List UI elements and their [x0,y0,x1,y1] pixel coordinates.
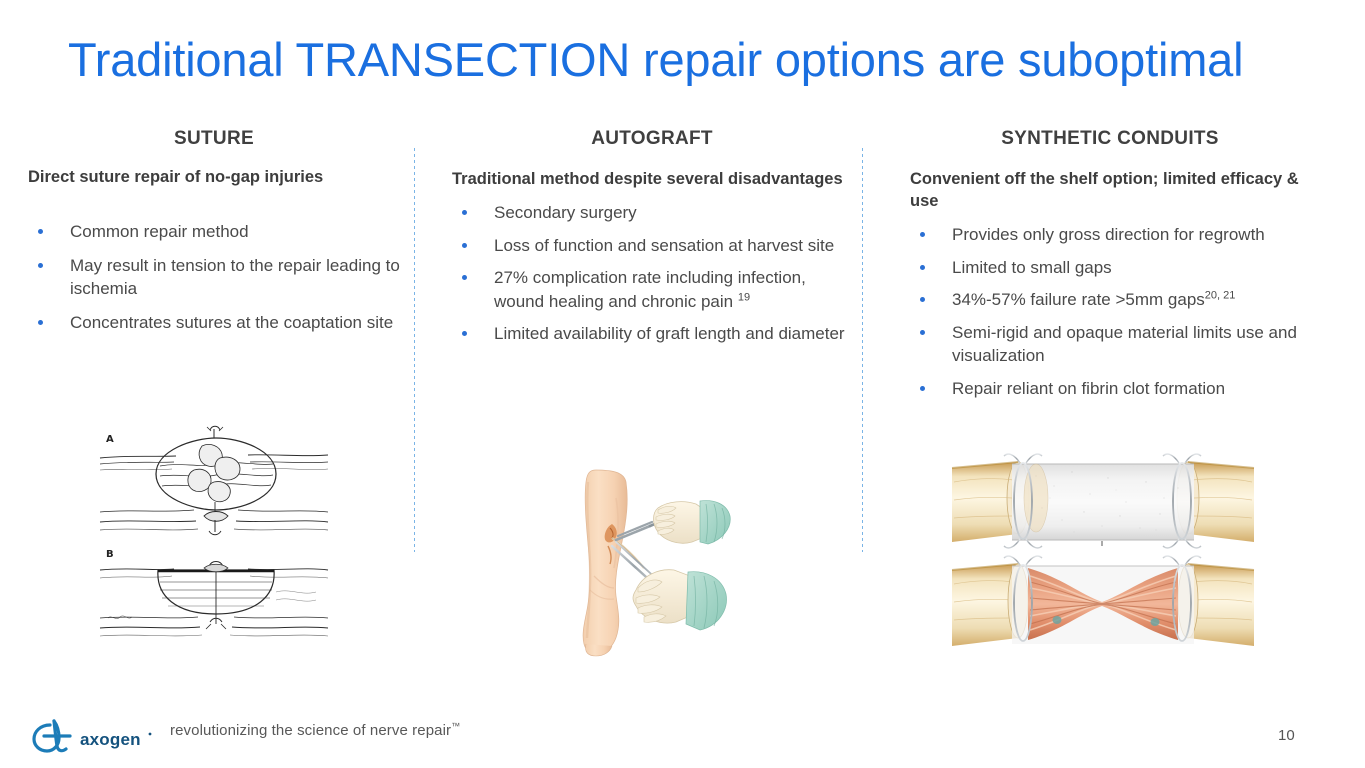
column-subheading-synthetic-conduits: Convenient off the shelf option; limited… [910,168,1310,212]
list-item: Concentrates sutures at the coaptation s… [28,311,400,335]
axogen-logo-wordmark: axogen [80,730,141,749]
suture-repair-line-drawing-icon: A [98,424,330,656]
synthetic-conduit-illustration-icon [950,442,1256,658]
list-item: 27% complication rate including infectio… [452,266,852,313]
axogen-logo-icon: axogen [28,714,156,756]
bullet-dot-icon [920,232,925,237]
column-divider-left [414,148,415,552]
bullet-dot-icon [920,330,925,335]
list-item-text: Repair reliant on fibrin clot formation [952,379,1225,398]
list-item-text: Limited to small gaps [952,258,1112,277]
bullet-list-synthetic-conduits: Provides only gross direction for regrow… [910,223,1310,400]
bullet-dot-icon [462,331,467,336]
list-item-text: May result in tension to the repair lead… [70,256,400,299]
list-item-text: Secondary surgery [494,203,637,222]
list-item-text: Limited availability of graft length and… [494,324,845,343]
list-item: Limited to small gaps [910,256,1310,280]
list-item: Semi-rigid and opaque material limits us… [910,321,1310,368]
bullet-dot-icon [920,297,925,302]
list-item: Limited availability of graft length and… [452,322,852,346]
bullet-dot-icon [920,386,925,391]
suture-repair-line-drawing-figure: A [98,424,330,656]
list-item: Loss of function and sensation at harves… [452,234,852,258]
list-item: May result in tension to the repair lead… [28,254,400,301]
list-item: 34%-57% failure rate >5mm gaps20, 21 [910,288,1310,312]
page-number: 10 [1278,727,1295,744]
bullet-list-autograft: Secondary surgery Loss of function and s… [452,201,852,346]
bullet-dot-icon [462,210,467,215]
column-divider-right [862,148,863,552]
list-item-text: Provides only gross direction for regrow… [952,225,1265,244]
bullet-dot-icon [462,275,467,280]
synthetic-conduit-illustration-figure [950,442,1256,658]
trademark-symbol: ™ [451,721,460,731]
bullet-dot-icon [38,263,43,268]
citation-reference: 20, 21 [1205,289,1236,301]
page-title: Traditional TRANSECTION repair options a… [68,32,1298,88]
nerve-harvest-leg-illustration-figure [572,468,732,658]
column-subheading-suture: Direct suture repair of no-gap injuries [28,166,400,188]
bullet-dot-icon [920,265,925,270]
list-item-text: Semi-rigid and opaque material limits us… [952,323,1297,366]
list-item-text: Loss of function and sensation at harves… [494,236,834,255]
citation-reference: 19 [738,291,750,303]
bullet-list-suture: Common repair method May result in tensi… [28,220,400,334]
svg-text:A: A [106,434,114,445]
bullet-dot-icon [38,320,43,325]
bullet-dot-icon [38,229,43,234]
svg-text:B: B [106,549,114,560]
list-item: Repair reliant on fibrin clot formation [910,377,1310,401]
list-item-text: 34%-57% failure rate >5mm gaps [952,290,1205,309]
list-item: Common repair method [28,220,400,244]
column-synthetic-conduits: SYNTHETIC CONDUITS Convenient off the sh… [910,128,1310,409]
footer-tagline: revolutionizing the science of nerve rep… [170,722,460,739]
list-item-text: 27% complication rate including infectio… [494,268,806,311]
footer-tagline-text: revolutionizing the science of nerve rep… [170,722,451,739]
list-item-text: Common repair method [70,222,249,241]
column-subheading-autograft: Traditional method despite several disad… [452,168,852,190]
column-heading-synthetic-conduits: SYNTHETIC CONDUITS [910,128,1310,152]
nerve-harvest-leg-illustration-icon [572,468,732,658]
column-heading-suture: SUTURE [28,128,400,152]
column-autograft: AUTOGRAFT Traditional method despite sev… [452,128,852,355]
bullet-dot-icon [462,243,467,248]
list-item-text: Concentrates sutures at the coaptation s… [70,313,393,332]
list-item: Secondary surgery [452,201,852,225]
column-suture: SUTURE Direct suture repair of no-gap in… [28,128,400,344]
column-heading-autograft: AUTOGRAFT [452,128,852,152]
list-item: Provides only gross direction for regrow… [910,223,1310,247]
axogen-logo: axogen [28,714,156,756]
